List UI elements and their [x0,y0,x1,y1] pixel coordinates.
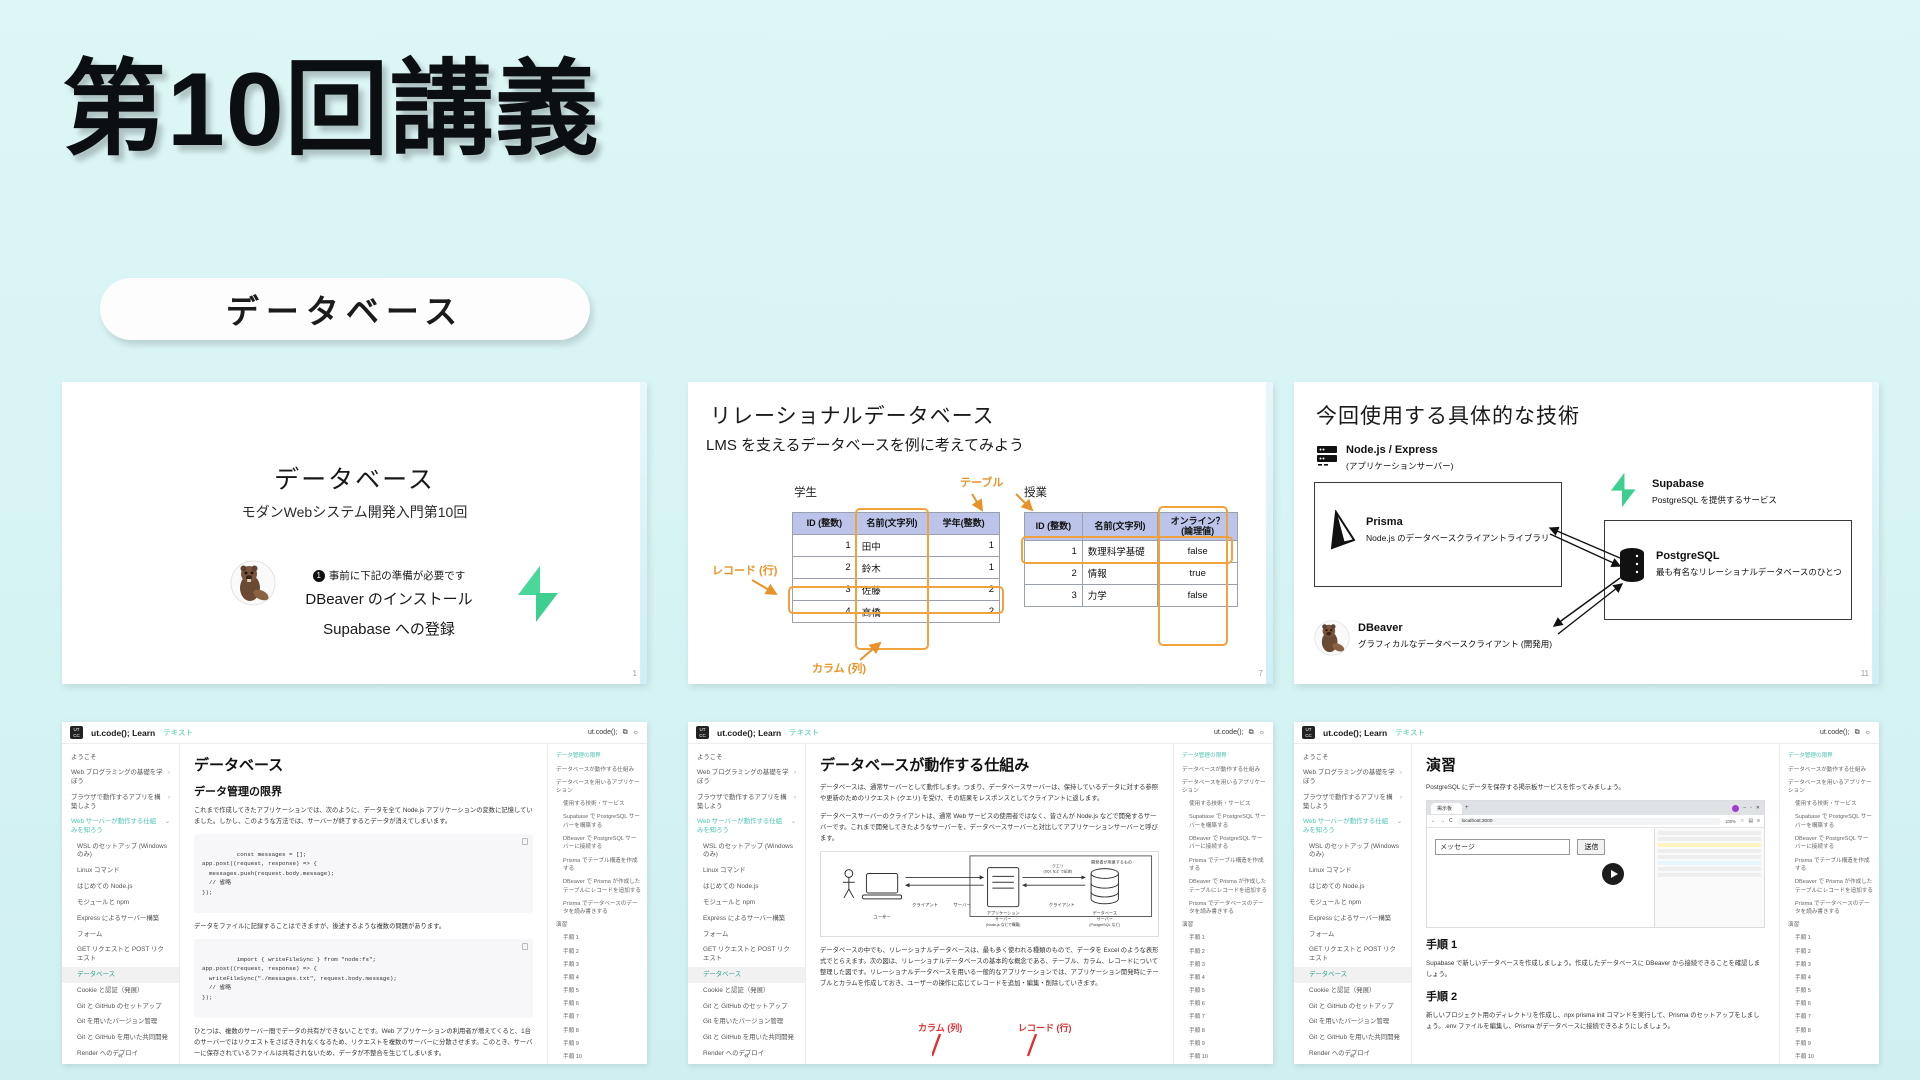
nav-text-link[interactable]: テキスト [1395,727,1425,738]
sidebar-item-13[interactable]: Git と GitHub のセットアップ [688,999,805,1015]
sidebar-item-11[interactable]: データベース [688,967,805,983]
chevron-right-icon[interactable]: › [794,769,796,786]
site-topbar: UTCC ut.code(); Learn テキスト ut.code(); ⧉ … [62,722,647,744]
toc-item-1[interactable]: データベースが動作する仕組み [1182,763,1267,776]
chevron-right-icon[interactable]: › [1400,794,1402,811]
toc-item-9[interactable]: 演習 [1182,919,1267,932]
toc-item-10[interactable]: 手順 1 [1788,932,1873,945]
cell-name: 高橋 [856,601,928,623]
sidebar-item-4[interactable]: WSL のセットアップ (Windows のみ) [1294,839,1411,863]
sun-icon[interactable]: ☼ [1259,729,1265,736]
toc-item-17[interactable]: 手順 8 [1788,1024,1873,1037]
sidebar-item-label: Linux コマンド [703,867,746,876]
table-row: 3佐藤2 [793,579,1000,601]
courses-table: ID (整数) 名前(文字列) オンライン？ (論理値) 1数理科学基礎fals… [1024,512,1238,607]
extensions-icon[interactable]: ▤ [1748,818,1753,824]
toc-item-14[interactable]: 手順 5 [1788,985,1873,998]
sidebar-item-5[interactable]: Linux コマンド [688,864,805,880]
toc-item-17[interactable]: 手順 8 [1182,1024,1267,1037]
sidebar-item-label: WSL のセットアップ (Windows のみ) [77,843,170,860]
sidebar-item-10[interactable]: GET リクエストと POST リクエスト [62,943,179,967]
sidebar-item-label: Web サーバーが動作する仕組みを知ろう [71,818,162,835]
dbeaver-label: DBeaver [1358,622,1403,634]
slide-card-3[interactable]: 今回使用する具体的な技術 Node.js / Express (アプリケーション… [1294,382,1879,684]
toc-item-2[interactable]: データベースを用いるアプリケーション [556,776,641,798]
cell-name: 佐藤 [856,579,928,601]
toc-item-3[interactable]: 使用する技術・サービス [556,798,641,811]
right-toc[interactable]: データ管理の限界データベースが動作する仕組みデータベースを用いるアプリケーション… [547,744,647,1064]
sidebar-item-label: モジュールと npm [703,899,755,908]
sidebar-item-3[interactable]: Web サーバーが動作する仕組みを知ろう⌄ [1294,815,1411,839]
toc-item-2[interactable]: データベースを用いるアプリケーション [1182,776,1267,798]
content-p3: ひとつは、複数のサーバー間でデータの共有ができないことです。Web アプリケーシ… [194,1026,533,1059]
topbar-right: ut.code(); ⧉ ☼ [588,729,639,737]
toc-item-3[interactable]: 使用する技術・サービス [1182,798,1267,811]
topright-brand[interactable]: ut.code(); [1214,729,1244,736]
topic-badge-label: データベース [226,285,464,333]
toc-item-14[interactable]: 手順 5 [556,985,641,998]
cell-id: 1 [793,535,857,557]
node-express-desc: (アプリケーションサーバー) [1346,460,1453,472]
sidebar-item-9[interactable]: フォーム [1294,927,1411,943]
send-button[interactable]: 送信 [1577,839,1605,855]
toc-item-6[interactable]: Prisma でテーブル構造を作成する [1788,854,1873,876]
browser-tab[interactable]: 掲示板 [1431,803,1462,814]
right-toc[interactable]: データ管理の限界データベースが動作する仕組みデータベースを用いるアプリケーション… [1173,744,1273,1064]
toc-item-5[interactable]: DBeaver で PostgreSQL サーバーに接続する [1788,833,1873,855]
red-arrows [932,1034,1052,1060]
sidebar-item-label: モジュールと npm [1309,899,1361,908]
fig-dbserver2: サーバー [1097,916,1113,921]
table-row: 4高橋2 [793,601,1000,623]
sidebar-item-label: Web サーバーが動作する仕組みを知ろう [1303,818,1394,835]
sidebar-item-label: ようこそ [71,754,97,763]
cell-id: 2 [1025,562,1083,584]
sidebar-item-label: Express によるサーバー構築 [1309,915,1391,924]
content-p1: PostgreSQL にデータを保存する掲示板サービスを作ってみましょう。 [1426,782,1765,793]
browser-mock: 掲示板 + – ▫ ✕ ← → C localhost:3000 [1426,800,1765,928]
cell-name: 力学 [1082,584,1158,606]
beaver-icon [230,560,276,606]
sidebar-item-0[interactable]: ようこそ [62,750,179,766]
sidebar-item-5[interactable]: Linux コマンド [62,864,179,880]
toc-item-7[interactable]: DBeaver で Prisma が作成したテーブルにレコードを追加する [1788,876,1873,898]
devtools-row [1658,843,1761,847]
devtools-panel [1654,828,1764,927]
sidebar-item-6[interactable]: はじめての Node.js [62,880,179,896]
sidebar-item-label: ようこそ [697,754,723,763]
cell-name: 数理科学基礎 [1082,540,1158,562]
slide1-prep-note: 1 事前に下記の準備が必要です DBeaver のインストール Supabase… [274,568,504,639]
annotation-record-red: レコード (行) [1018,1021,1072,1034]
toc-item-11[interactable]: 手順 2 [1182,945,1267,958]
url-input[interactable]: localhost:3000 [1457,818,1722,825]
minimize-icon[interactable]: – [1743,805,1746,811]
site-brand: ut.code(); Learn [717,728,781,738]
toc-item-16[interactable]: 手順 7 [556,1011,641,1024]
toc-item-0[interactable]: データ管理の限界 [556,750,641,763]
toc-item-12[interactable]: 手順 3 [556,958,641,971]
toc-item-9[interactable]: 演習 [556,919,641,932]
fig-client2: クライアント [1049,903,1075,909]
external-link-icon[interactable]: ⧉ [1249,729,1254,737]
cell-year: 1 [928,535,1000,557]
topbar-right: ut.code(); ⧉ ☼ [1820,729,1871,737]
content-h1: 演習 [1426,754,1765,775]
web-screenshot-2[interactable]: UTCC ut.code(); Learn テキスト ut.code(); ⧉ … [688,722,1273,1064]
sidebar-item-label: Git と GitHub のセットアップ [77,1003,162,1012]
table-row: 2鈴木1 [793,557,1000,579]
supabase-icon [1606,470,1638,510]
annotation-column-red: カラム (列) [918,1021,962,1034]
cell-online: false [1158,584,1238,606]
sidebar-item-14[interactable]: Git を用いたバージョン管理 [688,1015,805,1031]
sun-icon[interactable]: ☼ [633,729,639,736]
sidebar-item-label: はじめての Node.js [77,883,132,892]
sidebar-item-label: WSL のセットアップ (Windows のみ) [703,843,796,860]
sidebar-item-3[interactable]: Web サーバーが動作する仕組みを知ろう⌄ [688,815,805,839]
sidebar-item-label: ブラウザで動作するアプリを構築しよう [697,794,791,811]
cell-year: 2 [928,579,1000,601]
prisma-desc: Node.js のデータベースクライアントライブラリ [1366,532,1549,544]
sidebar-item-2[interactable]: ブラウザで動作するアプリを構築しよう› [688,790,805,814]
content-p3: 新しいプロジェクト用のディレクトリを作成し、npx prisma init コマ… [1426,1010,1765,1032]
chevron-down-icon[interactable]: ⌄ [165,818,170,835]
main-content: 演習 PostgreSQL にデータを保存する掲示板サービスを作ってみましょう。… [1412,744,1779,1064]
web-screenshot-3[interactable]: UTCC ut.code(); Learn テキスト ut.code(); ⧉ … [1294,722,1879,1064]
sidebar-item-label: Express によるサーバー構築 [703,915,785,924]
left-nav[interactable]: ようこそWeb プログラミングの基礎を学ぼう›ブラウザで動作するアプリを構築しよ… [688,744,806,1064]
sidebar-item-9[interactable]: フォーム [62,927,179,943]
toc-item-15[interactable]: 手順 6 [1788,998,1873,1011]
toc-item-19[interactable]: 手順 10 [1182,1051,1267,1064]
sidebar-item-label: Web サーバーが動作する仕組みを知ろう [697,818,788,835]
toc-item-7[interactable]: DBeaver で Prisma が作成したテーブルにレコードを追加する [1182,876,1267,898]
sidebar-item-label: Git と GitHub のセットアップ [703,1003,788,1012]
maximize-icon[interactable]: ▫ [1750,805,1752,811]
toc-item-0[interactable]: データ管理の限界 [1182,750,1267,763]
toc-item-7[interactable]: DBeaver で Prisma が作成したテーブルにレコードを追加する [556,876,641,898]
cell-id: 3 [793,579,857,601]
fig-appserver1: アプリケーション [987,910,1020,916]
sidebar-item-7[interactable]: モジュールと npm [1294,895,1411,911]
chevron-down-icon[interactable]: ⌄ [1397,818,1402,835]
slide-card-2[interactable]: リレーショナルデータベース LMS を支えるデータベースを例に考えてみよう テー… [688,382,1273,684]
students-col-year: 学年(整数) [928,513,1000,535]
sidebar-item-label: Cookie と認証（発展） [77,987,143,996]
back-icon[interactable]: ← [1431,818,1436,824]
sidebar-item-label: モジュールと npm [77,899,129,908]
menu-icon[interactable]: ≡ [1757,818,1760,824]
content-h2-step1: 手順 1 [1426,936,1765,952]
sidebar-item-1[interactable]: Web プログラミングの基礎を学ぼう› [62,766,179,790]
sidebar-item-0[interactable]: ようこそ [688,750,805,766]
toc-item-4[interactable]: Supabase で PostgreSQL サーバーを構築する [556,811,641,833]
number-badge-icon: 1 [313,570,325,582]
fig-query2: (SQL など で記述) [1044,869,1073,874]
copy-icon[interactable] [522,838,528,845]
sidebar-item-12[interactable]: Cookie と認証（発展） [1294,983,1411,999]
utcode-logo-icon: UTCC [1302,726,1315,739]
chevron-right-icon[interactable]: › [168,794,170,811]
cell-online: false [1158,540,1238,562]
toc-item-14[interactable]: 手順 5 [1182,985,1267,998]
sidebar-item-label: Cookie と認証（発展） [703,987,769,996]
sidebar-item-13[interactable]: Git と GitHub のセットアップ [62,999,179,1015]
sidebar-item-2[interactable]: ブラウザで動作するアプリを構築しよう› [1294,790,1411,814]
content-p1: データベースは、通常サーバーとして動作します。つまり、データベースサーバーは、保… [820,782,1159,804]
slide1-page-number: 1 [633,669,637,678]
play-icon[interactable] [1602,863,1624,885]
fig-appserver3: (Node.js などで構築) [986,922,1021,927]
sidebar-item-3[interactable]: Web サーバーが動作する仕組みを知ろう⌄ [62,815,179,839]
toc-item-12[interactable]: 手順 3 [1788,958,1873,971]
reload-icon[interactable]: C [1449,818,1453,824]
toc-item-10[interactable]: 手順 1 [556,932,641,945]
column-arrow [858,640,894,664]
utcode-logo-icon: UTCC [696,726,709,739]
supabase-label: Supabase [1652,478,1704,490]
toc-item-13[interactable]: 手順 4 [1788,972,1873,985]
sidebar-item-label: フォーム [1309,931,1334,940]
forward-icon[interactable]: → [1440,818,1445,824]
sidebar-item-label: GET リクエストと POST リクエスト [703,946,796,963]
collapse-sidebar-icon[interactable]: « [688,1050,805,1060]
sidebar-item-14[interactable]: Git を用いたバージョン管理 [62,1015,179,1031]
students-table: ID (整数) 名前(文字列) 学年(整数) 1田中1 2鈴木1 3佐藤2 4高… [792,512,1000,623]
prisma-icon [1324,510,1358,552]
sidebar-item-2[interactable]: ブラウザで動作するアプリを構築しよう› [62,790,179,814]
sidebar-item-label: Git を用いたバージョン管理 [1309,1018,1389,1027]
dbeaver-desc: グラフィカルなデータベースクライアント (開発用) [1358,638,1552,650]
toc-item-10[interactable]: 手順 1 [1182,932,1267,945]
table-row: 1田中1 [793,535,1000,557]
table-header-row: ID (整数) 名前(文字列) 学年(整数) [793,513,1000,535]
toc-item-1[interactable]: データベースが動作する仕組み [1788,763,1873,776]
slide3-title: 今回使用する具体的な技術 [1316,400,1580,430]
zoom-level: 100% [1725,819,1736,824]
sidebar-item-7[interactable]: モジュールと npm [688,895,805,911]
toc-item-3[interactable]: 使用する技術・サービス [1788,798,1873,811]
sidebar-item-label: GET リクエストと POST リクエスト [1309,946,1402,963]
toc-item-18[interactable]: 手順 9 [1182,1037,1267,1050]
chevron-right-icon[interactable]: › [1400,769,1402,786]
sidebar-item-label: Git を用いたバージョン管理 [703,1018,783,1027]
toc-item-6[interactable]: Prisma でテーブル構造を作成する [1182,854,1267,876]
toc-item-11[interactable]: 手順 2 [1788,945,1873,958]
slide-card-1[interactable]: データベース モダンWebシステム開発入門第10回 1 事前に下記の準備が必要で… [62,382,647,684]
postgresql-label: PostgreSQL [1656,550,1720,562]
courses-col-online-l2: (論理値) [1163,526,1232,536]
sidebar-item-label: WSL のセットアップ (Windows のみ) [1309,843,1402,860]
sidebar-item-15[interactable]: Git と GitHub を用いた共同開発 [688,1031,805,1047]
copy-icon[interactable] [522,943,528,950]
toc-item-18[interactable]: 手順 9 [556,1037,641,1050]
sidebar-item-12[interactable]: Cookie と認証（発展） [62,983,179,999]
content-p2: データベースサーバーのクライアントは、通常 Web サービスの使用者ではなく、皆… [820,811,1159,844]
page-title: 第10回講義 [62,52,600,168]
courses-col-online-l1: オンライン？ [1163,516,1232,526]
sidebar-item-10[interactable]: GET リクエストと POST リクエスト [688,943,805,967]
topright-brand[interactable]: ut.code(); [1820,729,1850,736]
sidebar-item-8[interactable]: Express によるサーバー構築 [62,911,179,927]
toc-item-5[interactable]: DBeaver で PostgreSQL サーバーに接続する [556,833,641,855]
slide-edge-decoration [1872,382,1879,684]
main-content: データベースが動作する仕組み データベースは、通常サーバーとして動作します。つま… [806,744,1173,1064]
toc-item-16[interactable]: 手順 7 [1182,1011,1267,1024]
content-p2: データをファイルに記録することはできますが、後述するような複数の問題があります。 [194,921,533,932]
toc-item-13[interactable]: 手順 4 [1182,972,1267,985]
toc-item-6[interactable]: Prisma でテーブル構造を作成する [556,854,641,876]
toc-item-12[interactable]: 手順 3 [1182,958,1267,971]
topright-brand[interactable]: ut.code(); [588,729,618,736]
sidebar-item-11[interactable]: データベース [62,967,179,983]
sidebar-item-1[interactable]: Web プログラミングの基礎を学ぼう› [1294,766,1411,790]
slide1-note-heading-row: 1 事前に下記の準備が必要です [274,568,504,583]
sidebar-item-13[interactable]: Git と GitHub のセットアップ [1294,999,1411,1015]
toc-item-4[interactable]: Supabase で PostgreSQL サーバーを構築する [1788,811,1873,833]
toc-item-19[interactable]: 手順 10 [1788,1051,1873,1064]
collapse-sidebar-icon[interactable]: « [62,1050,179,1060]
devtools-row [1658,831,1761,835]
beaver-icon [1314,620,1350,656]
chevron-down-icon[interactable]: ⌄ [791,818,796,835]
collapse-sidebar-icon[interactable]: « [1294,1050,1411,1060]
annotation-record: レコード (行) [712,562,777,578]
fig-client1: クライアント [912,903,938,909]
slide1-note-line2: Supabase への登録 [274,618,504,639]
browser-urlbar: ← → C localhost:3000 100% ☆ ▤ ≡ [1427,815,1764,828]
sidebar-item-label: はじめての Node.js [1309,883,1364,892]
fig-dbserver1: データベース [1093,910,1117,916]
left-nav[interactable]: ようこそWeb プログラミングの基礎を学ぼう›ブラウザで動作するアプリを構築しよ… [1294,744,1412,1064]
toc-item-1[interactable]: データベースが動作する仕組み [556,763,641,776]
sidebar-item-7[interactable]: モジュールと npm [62,895,179,911]
sidebar-item-6[interactable]: はじめての Node.js [688,880,805,896]
left-nav[interactable]: ようこそWeb プログラミングの基礎を学ぼう›ブラウザで動作するアプリを構築しよ… [62,744,180,1064]
poster-root: 第10回講義 データベース データベース モダンWebシステム開発入門第10回 … [0,0,1920,1080]
courses-col-name: 名前(文字列) [1082,513,1158,541]
devtools-row [1658,849,1761,853]
sidebar-item-label: フォーム [703,931,728,940]
sidebar-item-15[interactable]: Git と GitHub を用いた共同開発 [1294,1031,1411,1047]
content-h2-step2: 手順 2 [1426,988,1765,1004]
architecture-figure: クライアント クライアント サーバー ユーザー アプリケーション サーバー (N… [820,851,1159,937]
sidebar-item-0[interactable]: ようこそ [1294,750,1411,766]
slide1-subtitle: モダンWebシステム開発入門第10回 [62,502,647,522]
toc-item-8[interactable]: Prisma でデータベースのデータを読み書きする [556,897,641,919]
chevron-right-icon[interactable]: › [168,769,170,786]
sidebar-item-8[interactable]: Express によるサーバー構築 [1294,911,1411,927]
sidebar-item-5[interactable]: Linux コマンド [1294,864,1411,880]
sidebar-item-label: ブラウザで動作するアプリを構築しよう [1303,794,1397,811]
slide2-title: リレーショナルデータベース [710,400,995,430]
sidebar-item-8[interactable]: Express によるサーバー構築 [688,911,805,927]
sidebar-item-10[interactable]: GET リクエストと POST リクエスト [1294,943,1411,967]
sidebar-item-label: Git と GitHub を用いた共同開発 [703,1034,794,1043]
toc-item-4[interactable]: Supabase で PostgreSQL サーバーを構築する [1182,811,1267,833]
toc-item-17[interactable]: 手順 8 [556,1024,641,1037]
content-p2: Supabase で新しいデータベースを作成しましょう。作成したデータベースに … [1426,958,1765,980]
architecture-diagram: クライアント クライアント サーバー ユーザー アプリケーション サーバー (N… [821,852,1158,936]
web-screenshot-1[interactable]: UTCC ut.code(); Learn テキスト ut.code(); ⧉ … [62,722,647,1064]
sidebar-item-1[interactable]: Web プログラミングの基礎を学ぼう› [688,766,805,790]
cell-id: 3 [1025,584,1083,606]
sidebar-item-12[interactable]: Cookie と認証（発展） [688,983,805,999]
slide1-note-line1: DBeaver のインストール [274,588,504,609]
toc-item-8[interactable]: Prisma でデータベースのデータを読み書きする [1788,897,1873,919]
fig-query1: クエリ [1052,864,1064,869]
fig-user: ユーザー [873,914,890,920]
toc-item-0[interactable]: データ管理の限界 [1788,750,1873,763]
message-input[interactable]: メッセージ [1435,839,1570,855]
toc-item-5[interactable]: DBeaver で PostgreSQL サーバーに接続する [1182,833,1267,855]
new-tab-icon[interactable]: + [1465,805,1469,811]
site-brand: ut.code(); Learn [91,728,155,738]
close-icon[interactable]: ✕ [1756,805,1760,811]
external-link-icon[interactable]: ⧉ [1855,729,1860,737]
sun-icon[interactable]: ☼ [1865,729,1871,736]
slide1-title: データベース [62,460,647,496]
sidebar-item-4[interactable]: WSL のセットアップ (Windows のみ) [62,839,179,863]
toc-item-9[interactable]: 演習 [1788,919,1873,932]
browser-tabstrip: 掲示板 + – ▫ ✕ [1427,801,1764,815]
server-icon [1316,445,1338,467]
avatar[interactable] [1732,805,1739,812]
bookmark-icon[interactable]: ☆ [1740,818,1744,824]
toc-item-16[interactable]: 手順 7 [1788,1011,1873,1024]
nav-text-link[interactable]: テキスト [789,727,819,738]
slide3-page-number: 11 [1861,669,1869,678]
chevron-right-icon[interactable]: › [794,794,796,811]
devtools-row [1658,861,1761,865]
toc-item-15[interactable]: 手順 6 [556,998,641,1011]
nav-text-link[interactable]: テキスト [163,727,193,738]
topbar-right: ut.code(); ⧉ ☼ [1214,729,1265,737]
code-text: import { writeFileSync } from "node:fs";… [202,956,397,1001]
sidebar-item-11[interactable]: データベース [1294,967,1411,983]
sidebar-item-6[interactable]: はじめての Node.js [1294,880,1411,896]
table-row: 2情報true [1025,562,1238,584]
toc-item-13[interactable]: 手順 4 [556,972,641,985]
site-topbar: UTCC ut.code(); Learn テキスト ut.code(); ⧉ … [1294,722,1879,744]
content-p1: これまで作成してきたアプリケーションでは、次のように、データを全て Node.j… [194,805,533,827]
sidebar-item-label: はじめての Node.js [703,883,758,892]
slide1-note-heading: 事前に下記の準備が必要です [329,568,466,583]
right-toc[interactable]: データ管理の限界データベースが動作する仕組みデータベースを用いるアプリケーション… [1779,744,1879,1064]
toc-item-18[interactable]: 手順 9 [1788,1037,1873,1050]
toc-item-15[interactable]: 手順 6 [1182,998,1267,1011]
external-link-icon[interactable]: ⧉ [623,729,628,737]
supabase-icon [510,564,562,624]
toc-item-2[interactable]: データベースを用いるアプリケーション [1788,776,1873,798]
sidebar-item-9[interactable]: フォーム [688,927,805,943]
sidebar-item-15[interactable]: Git と GitHub を用いた共同開発 [62,1031,179,1047]
devtools-row [1658,867,1761,871]
sidebar-item-4[interactable]: WSL のセットアップ (Windows のみ) [688,839,805,863]
sidebar-item-label: データベース [77,971,115,980]
sidebar-item-14[interactable]: Git を用いたバージョン管理 [1294,1015,1411,1031]
content-h1: データベースが動作する仕組み [820,754,1159,775]
devtools-row [1658,873,1761,877]
toc-item-19[interactable]: 手順 10 [556,1051,641,1064]
fig-appserver2: サーバー [995,916,1011,921]
students-col-name: 名前(文字列) [856,513,928,535]
toc-item-11[interactable]: 手順 2 [556,945,641,958]
table-header-row: ID (整数) 名前(文字列) オンライン？ (論理値) [1025,513,1238,541]
toc-item-8[interactable]: Prisma でデータベースのデータを読み書きする [1182,897,1267,919]
sidebar-item-label: Git と GitHub を用いた共同開発 [77,1034,168,1043]
